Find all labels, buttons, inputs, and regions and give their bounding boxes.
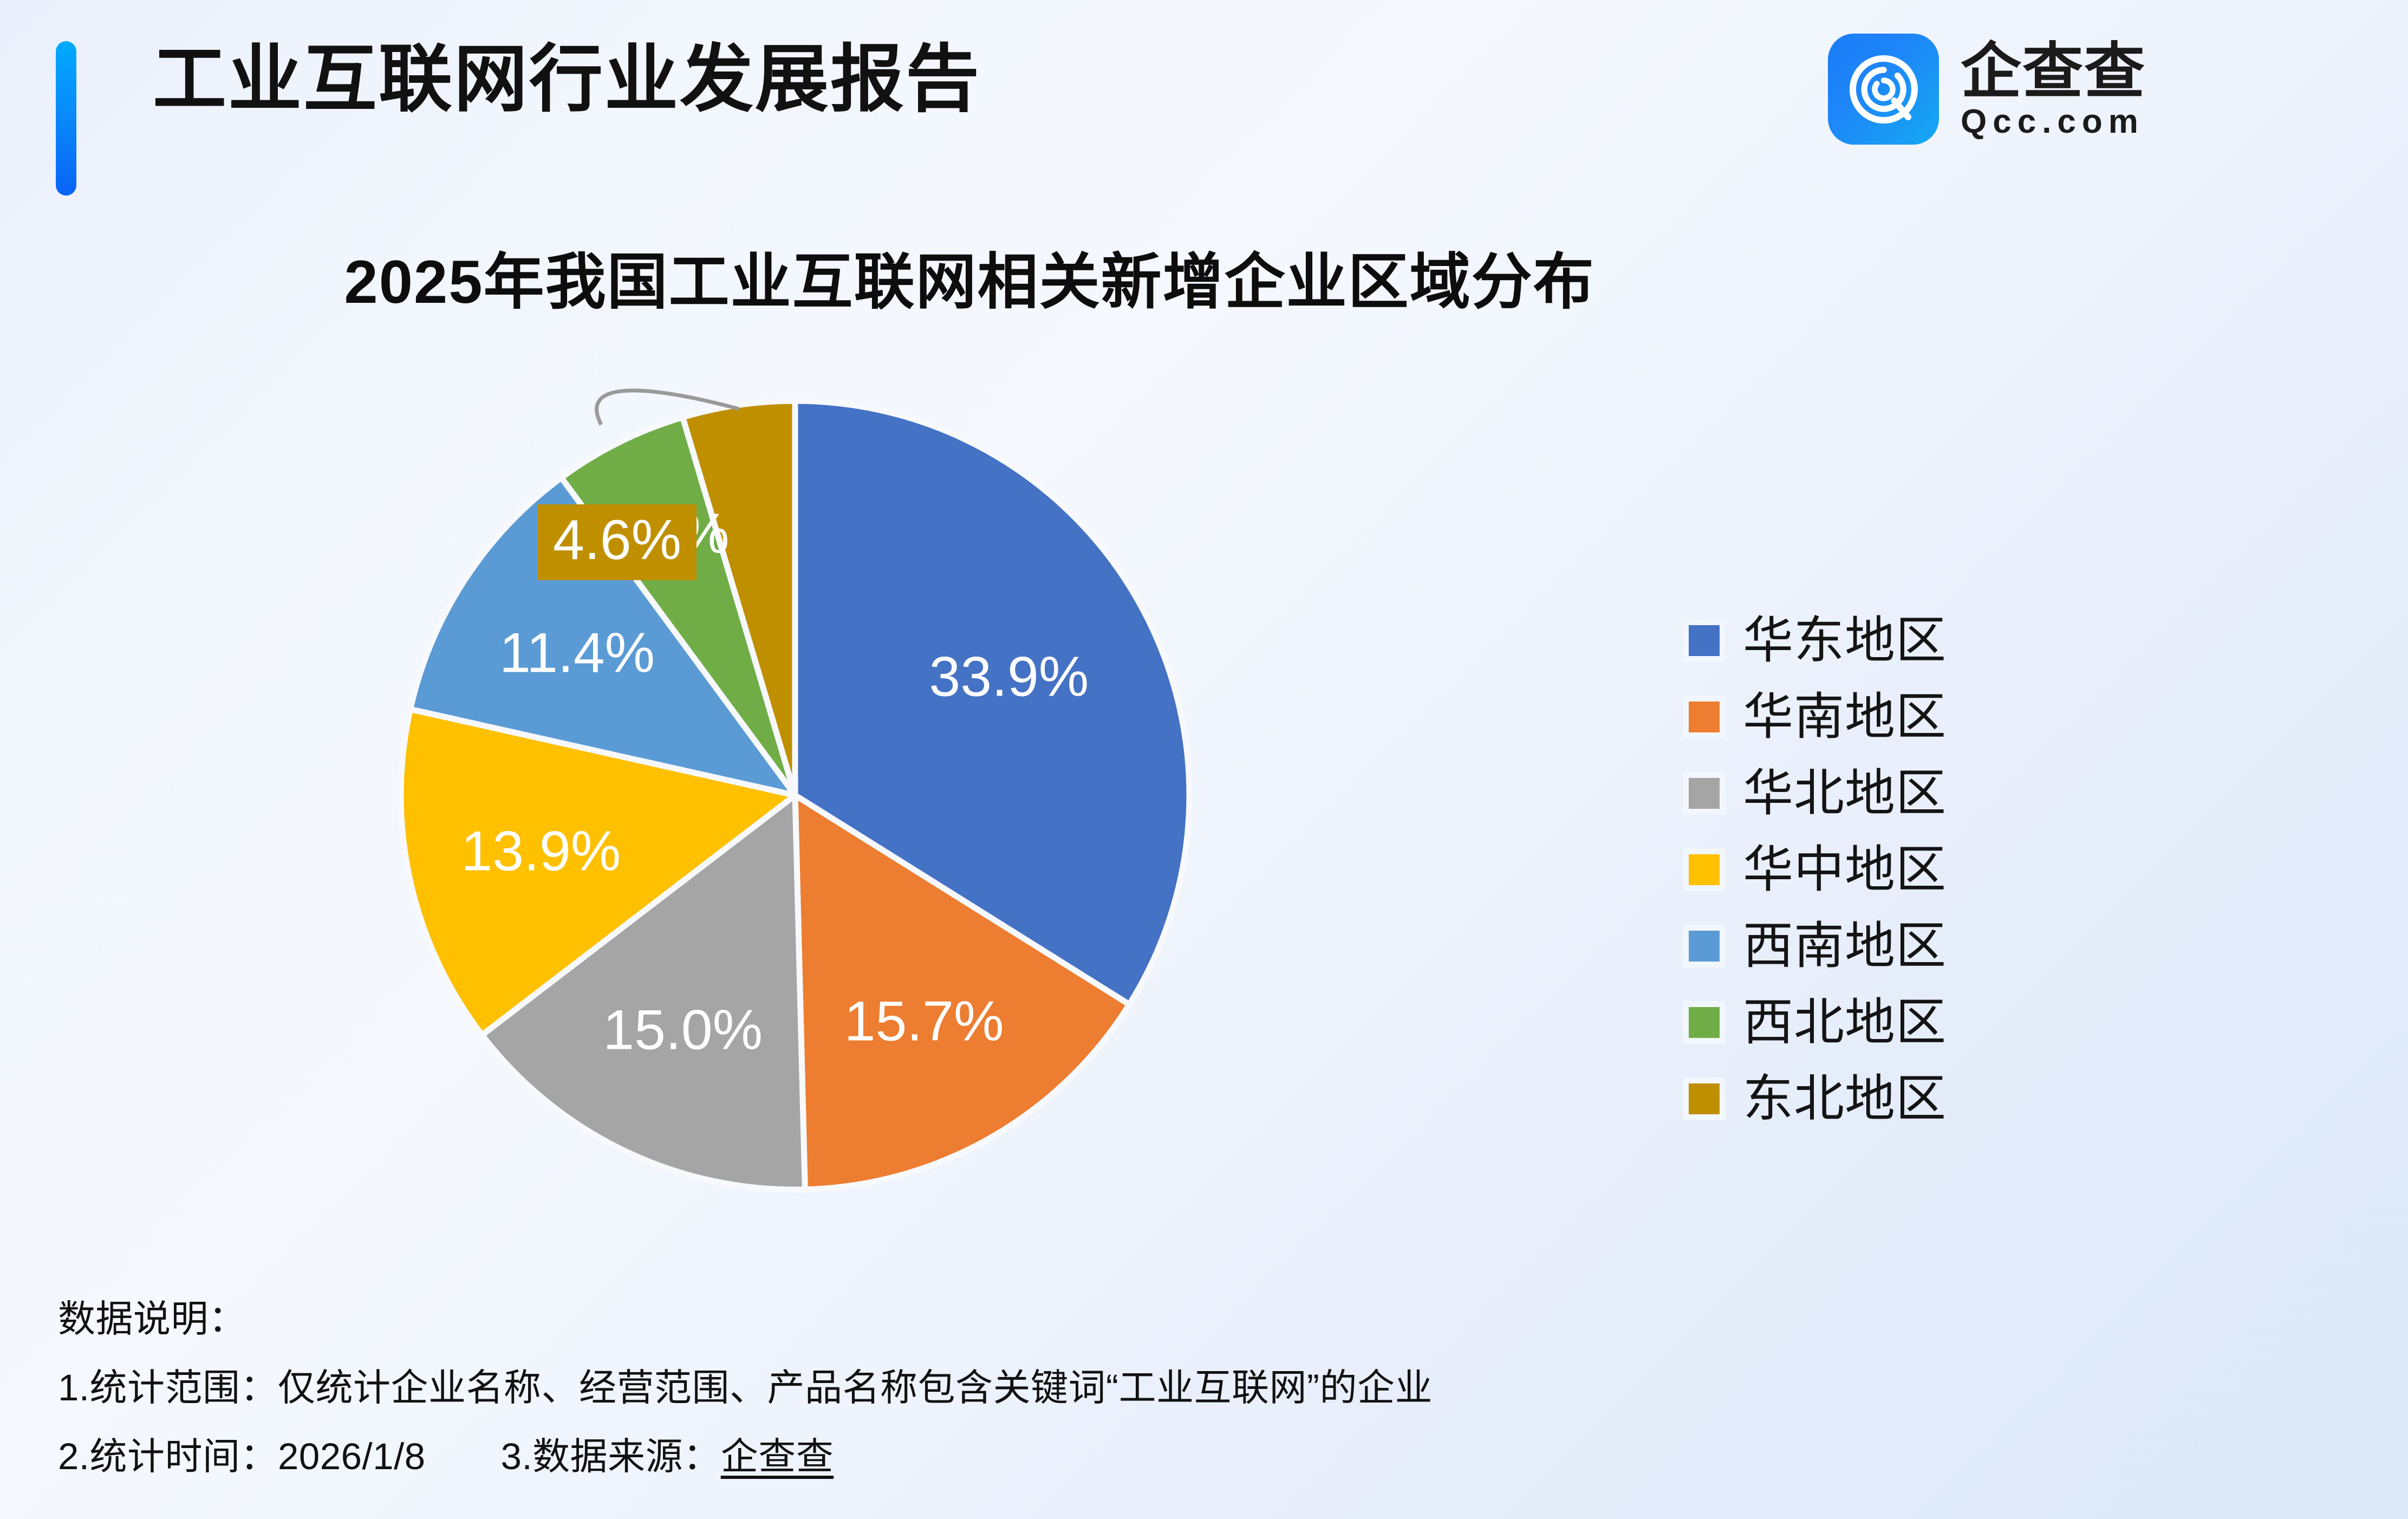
legend-color-swatch [1689, 1083, 1720, 1114]
legend-color-swatch [1689, 1007, 1720, 1038]
brand-name-cn: 企查查 [1961, 40, 2146, 103]
title-accent-bar [56, 41, 76, 196]
brand-name-en: Qcc.com [1961, 105, 2146, 139]
pie-chart: 33.9%15.7%15.0%13.9%11.4%5.5% 4.6% [379, 379, 1246, 1246]
footnote-time-and-source: 2.统计时间：2026/1/8 3.数据来源： 企查查 [58, 1438, 2333, 1475]
pie-callout-label-east-north: 4.6% [538, 504, 697, 580]
brand-wordmark: 企查查 Qcc.com [1961, 40, 2146, 139]
legend-item-label: 西北地区 [1743, 997, 1947, 1048]
pie-slice-label: 11.4% [499, 621, 655, 684]
chart-legend: 华东地区华南地区华北地区华中地区西南地区西北地区东北地区 [1689, 611, 1947, 1128]
report-canvas: 工业互联网行业发展报告 企查查 Qcc.com 2025年我国工业互联网相关新增… [0, 0, 2408, 1519]
legend-item[interactable]: 华东地区 [1689, 611, 1947, 670]
pie-slice-label: 15.0% [603, 998, 763, 1061]
footnote-heading: 数据说明： [58, 1300, 2333, 1338]
legend-item[interactable]: 华南地区 [1689, 687, 1947, 746]
legend-item[interactable]: 东北地区 [1689, 1069, 1947, 1128]
qcc-spiral-q-icon [1828, 34, 1939, 145]
footnote-spacer [426, 1438, 501, 1475]
legend-item-label: 华东地区 [1743, 615, 1947, 666]
pie-slice-label: 33.9% [929, 645, 1089, 708]
footnote-time: 2.统计时间：2026/1/8 [58, 1438, 426, 1475]
legend-item[interactable]: 西北地区 [1689, 993, 1947, 1051]
legend-item[interactable]: 西南地区 [1689, 917, 1947, 975]
legend-item-label: 华南地区 [1743, 692, 1947, 742]
pie-slice-label: 13.9% [461, 820, 621, 882]
legend-item-label: 西南地区 [1743, 921, 1947, 971]
legend-item-label: 华中地区 [1743, 845, 1947, 895]
pie-slice-label: 15.7% [844, 990, 1004, 1053]
legend-color-swatch [1689, 625, 1720, 656]
brand-logo: 企查查 Qcc.com [1828, 34, 2146, 145]
legend-item[interactable]: 华中地区 [1689, 840, 1947, 899]
legend-item-label: 东北地区 [1743, 1074, 1947, 1124]
legend-color-swatch [1689, 854, 1720, 885]
footnotes: 数据说明： 1.统计范围：仅统计企业名称、经营范围、产品名称包含关键词“工业互联… [58, 1300, 2333, 1475]
legend-item-label: 华北地区 [1743, 768, 1947, 819]
pie-slice-group [401, 401, 1189, 1190]
chart-title: 2025年我国工业互联网相关新增企业区域分布 [0, 233, 1939, 321]
legend-color-swatch [1689, 931, 1720, 962]
legend-color-swatch [1689, 702, 1720, 732]
footnote-source-label: 3.数据来源： [501, 1438, 721, 1475]
legend-color-swatch [1689, 778, 1720, 809]
footnote-scope: 1.统计范围：仅统计企业名称、经营范围、产品名称包含关键词“工业互联网”的企业 [58, 1369, 2333, 1406]
footnote-source-value[interactable]: 企查查 [721, 1438, 834, 1475]
page-title: 工业互联网行业发展报告 [153, 42, 981, 116]
legend-item[interactable]: 华北地区 [1689, 764, 1947, 822]
pie-chart-svg: 33.9%15.7%15.0%13.9%11.4%5.5% [379, 379, 1246, 1246]
